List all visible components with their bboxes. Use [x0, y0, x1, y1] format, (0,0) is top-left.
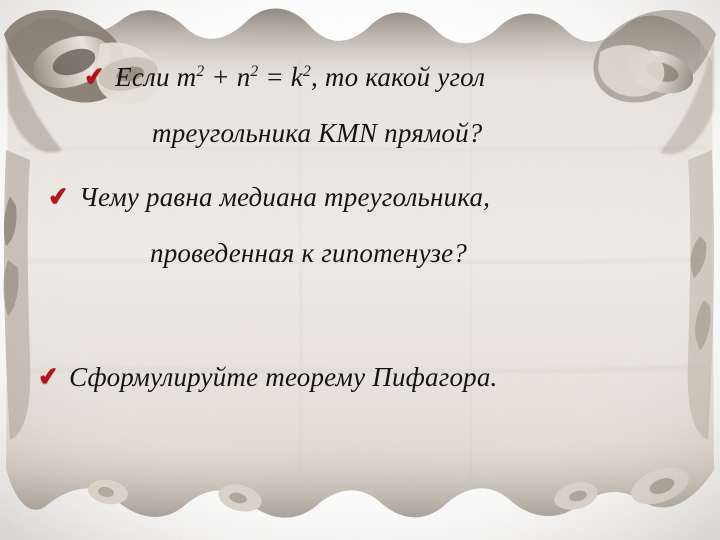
- question-3-line-1-text: Сформулируйте теорему Пифагора.: [69, 362, 497, 392]
- question-1-line-2: треугольника KMN прямой?: [152, 118, 482, 149]
- check-mark-icon: ✔: [82, 61, 106, 93]
- question-2-line-2: проведенная к гипотенузе?: [150, 238, 467, 269]
- slide-canvas: ✔Если m2 + n2 = k2, то какой угол треуго…: [0, 0, 720, 540]
- question-2-line-1-text: Чему равна медиана треугольника,: [79, 182, 490, 212]
- check-mark-icon: ✔: [46, 181, 70, 213]
- question-1-line-1-text: Если m2 + n2 = k2, то какой угол: [115, 62, 485, 92]
- question-2-line-1: ✔Чему равна медиана треугольника,: [48, 182, 490, 213]
- question-list: ✔Если m2 + n2 = k2, то какой угол треуго…: [0, 0, 720, 540]
- question-1-line-1: ✔Если m2 + n2 = k2, то какой угол: [84, 62, 485, 93]
- check-mark-icon: ✔: [36, 361, 60, 393]
- question-3-line-1: ✔Сформулируйте теорему Пифагора.: [38, 362, 498, 393]
